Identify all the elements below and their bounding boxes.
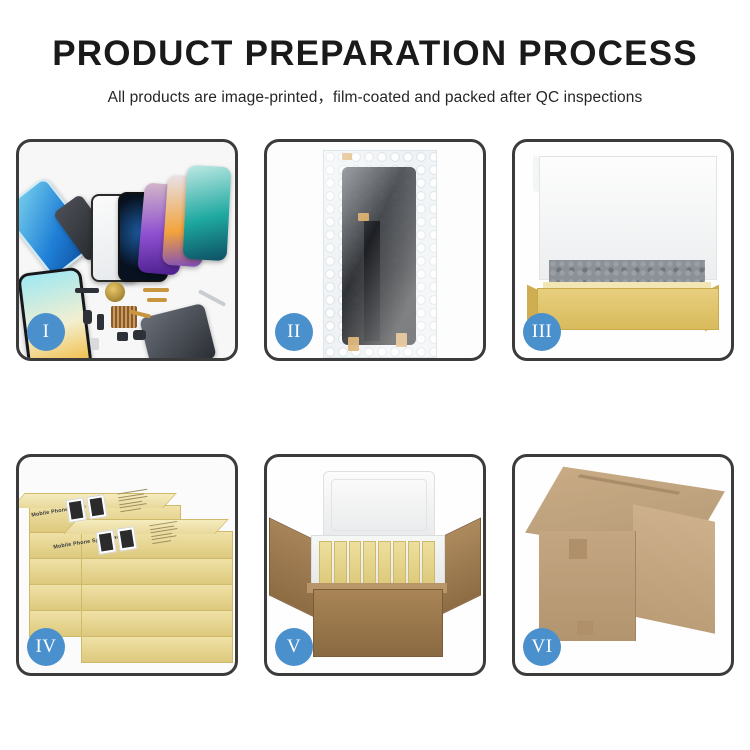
- stack-box-right-2: [81, 557, 233, 585]
- process-step-4[interactable]: Mobile Phone Spare Parts Mobile Phone Sp…: [16, 454, 238, 676]
- stack-box-right-5: [81, 635, 233, 663]
- stack-box-lid-2: [63, 519, 229, 534]
- small-part-4: [117, 332, 128, 341]
- yellow-boxes-inside: [319, 541, 435, 585]
- stack-box-right-3: [81, 583, 233, 611]
- foam-lid: [323, 471, 435, 539]
- carton-right-face: [633, 504, 715, 633]
- bubble-wrap: [323, 150, 437, 358]
- step-badge-6: VI: [523, 628, 561, 666]
- process-step-5[interactable]: V: [264, 454, 486, 676]
- step-badge-2: II: [275, 313, 313, 351]
- small-part-5: [133, 330, 146, 340]
- process-step-3[interactable]: III: [512, 139, 734, 361]
- step-badge-5: V: [275, 628, 313, 666]
- phone-back-cover: [139, 303, 217, 358]
- small-part-3: [97, 314, 104, 330]
- flex-cable-2: [147, 298, 167, 302]
- plastic-sheen: [324, 151, 436, 357]
- carton-tab-upper: [569, 539, 587, 559]
- process-step-2[interactable]: II: [264, 139, 486, 361]
- page-header: PRODUCT PREPARATION PROCESS All products…: [0, 0, 750, 107]
- small-part-1: [75, 288, 99, 293]
- screwdriver-tool: [198, 289, 226, 307]
- process-step-6[interactable]: VI: [512, 454, 734, 676]
- page-subtitle: All products are image-printed，film-coat…: [0, 85, 750, 107]
- label-thumb-1a: [65, 497, 86, 523]
- phone-teal: [183, 165, 232, 261]
- small-part-6: [91, 338, 99, 350]
- flex-cable-1: [143, 288, 169, 292]
- page-title: PRODUCT PREPARATION PROCESS: [0, 36, 750, 73]
- step-badge-3: III: [523, 313, 561, 351]
- process-step-1[interactable]: I: [16, 139, 238, 361]
- stack-box-right-4: [81, 609, 233, 637]
- process-grid: I II III: [16, 139, 734, 676]
- carton-front-panel: [313, 589, 443, 657]
- label-thumb-1b: [86, 494, 107, 520]
- step-badge-4: IV: [27, 628, 65, 666]
- speaker-coil-part: [105, 282, 125, 302]
- label-thumb-2a: [95, 529, 116, 555]
- label-thumb-2b: [116, 526, 137, 552]
- step-badge-1: I: [27, 313, 65, 351]
- box-label-lines-2: [149, 521, 180, 547]
- box-front-panel: [537, 288, 719, 330]
- small-part-2: [83, 310, 92, 324]
- carton-tab-lower: [577, 621, 593, 635]
